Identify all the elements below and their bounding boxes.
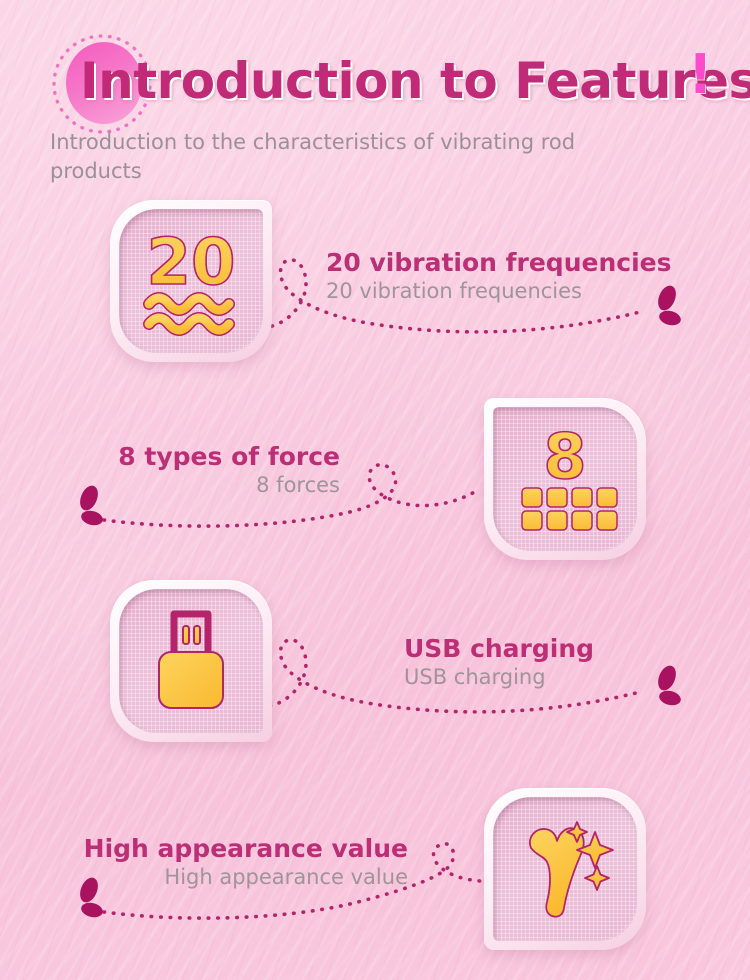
card-inner [119,589,263,733]
page-subtitle: Introduction to the characteristics of v… [50,128,650,186]
infographic-page: Introduction to Features ! Introduction … [0,0,750,980]
feature-subtitle: USB charging [404,664,594,691]
title-exclamation: ! [688,48,713,102]
feature-label-types-of-force: 8 types of force 8 forces [60,442,340,499]
massager-sparkle-icon [509,810,621,928]
card-inner: 20 [119,209,263,353]
svg-text:8: 8 [543,420,586,493]
feature-label-usb-charging: USB charging USB charging [404,634,594,691]
header: Introduction to Features ! Introduction … [0,0,750,200]
feature-label-appearance-value: High appearance value High appearance va… [50,834,408,891]
usb-connector-icon [139,606,243,716]
feature-card-vibration-frequencies[interactable]: 20 [110,200,272,362]
leaf-decoration-3 [650,664,686,712]
feature-card-types-of-force[interactable]: 8 [484,398,646,560]
feature-title: High appearance value [50,834,408,864]
feature-title: USB charging [404,634,594,664]
feature-subtitle: 8 forces [60,472,340,499]
feature-title: 8 types of force [60,442,340,472]
page-title: Introduction to Features [80,52,750,110]
twenty-waves-icon: 20 [129,226,253,336]
eight-blocks-icon: 8 [506,422,624,536]
card-inner: 8 [493,407,637,551]
feature-card-usb-charging[interactable] [110,580,272,742]
feature-subtitle: High appearance value [50,864,408,891]
feature-label-vibration-frequencies: 20 vibration frequencies 20 vibration fr… [326,248,671,305]
feature-title: 20 vibration frequencies [326,248,671,278]
card-inner [493,797,637,941]
feature-card-appearance-value[interactable] [484,788,646,950]
svg-text:20: 20 [146,226,235,300]
feature-subtitle: 20 vibration frequencies [326,278,671,305]
